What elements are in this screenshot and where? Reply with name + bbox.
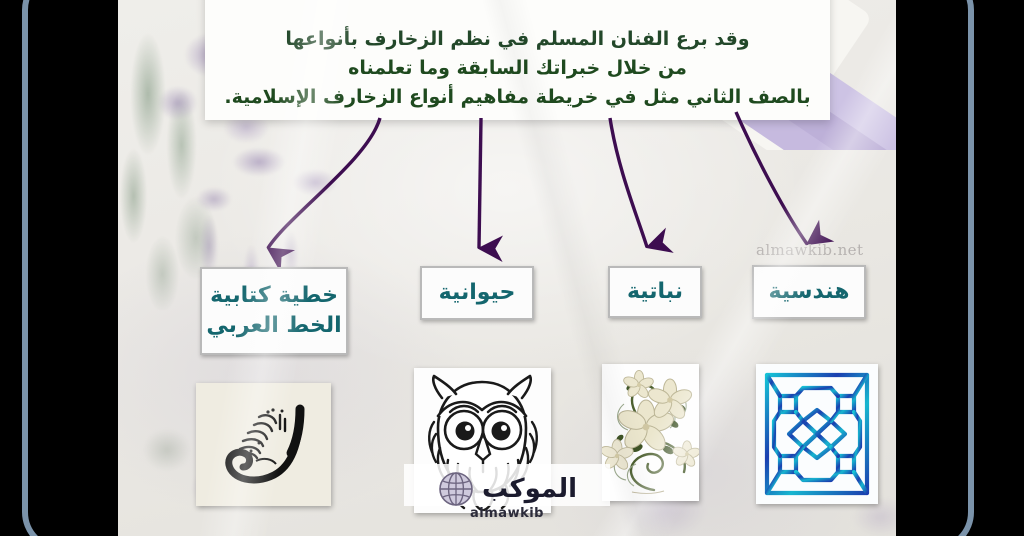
category-label-text: نباتية — [627, 277, 683, 307]
headline-panel: وقد برع الفنان المسلم في نظم الزخارف بأن… — [205, 0, 830, 120]
category-label-animal[interactable]: حيوانية — [420, 266, 534, 320]
logo-arabic-text: الموكب — [482, 474, 577, 504]
floral-arabesque-thumbnail[interactable] — [602, 364, 699, 501]
arrow-to-animal — [479, 118, 481, 248]
arrow-to-calligraphy — [268, 118, 380, 248]
headline-line-3: بالصف الثاني مثل في خريطة مفاهيم أنواع ا… — [224, 83, 810, 112]
category-label-text: هندسية — [769, 277, 850, 307]
category-label-plant[interactable]: نباتية — [608, 266, 702, 318]
headline-line-1: وقد برع الفنان المسلم في نظم الزخارف بأن… — [285, 25, 749, 54]
watercolor-lavender-decoration-mid — [178, 120, 358, 240]
slide-content-area: وقد برع الفنان المسلم في نظم الزخارف بأن… — [118, 0, 896, 536]
category-label-text: خطية كتابية — [210, 281, 338, 311]
globe-icon — [437, 470, 475, 508]
screenshot-canvas: وقد برع الفنان المسلم في نظم الزخارف بأن… — [0, 0, 1024, 536]
headline-line-2: من خلال خبراتك السابقة وما تعلمناه — [348, 54, 687, 83]
logo-latin-text: almawkib — [470, 506, 544, 521]
arrow-to-geometric — [736, 112, 807, 244]
logo-row: الموكب — [437, 470, 577, 508]
category-label-calligraphy[interactable]: خطية كتابية الخط العربي — [200, 267, 348, 355]
category-label-geometric[interactable]: هندسية — [752, 265, 866, 319]
category-label-text-second: الخط العربي — [206, 311, 341, 341]
geometric-artwork — [756, 364, 878, 504]
arrow-to-plant — [610, 118, 647, 247]
site-watermark: almawkib.net — [756, 241, 863, 259]
geometric-star-pattern-thumbnail[interactable] — [756, 364, 878, 504]
category-label-text: حيوانية — [439, 278, 516, 308]
almawkib-logo: الموكب almawkib — [412, 466, 602, 524]
calligraphy-artwork — [196, 383, 331, 506]
floral-artwork — [602, 364, 699, 501]
arabic-calligraphy-thumbnail[interactable] — [196, 383, 331, 506]
